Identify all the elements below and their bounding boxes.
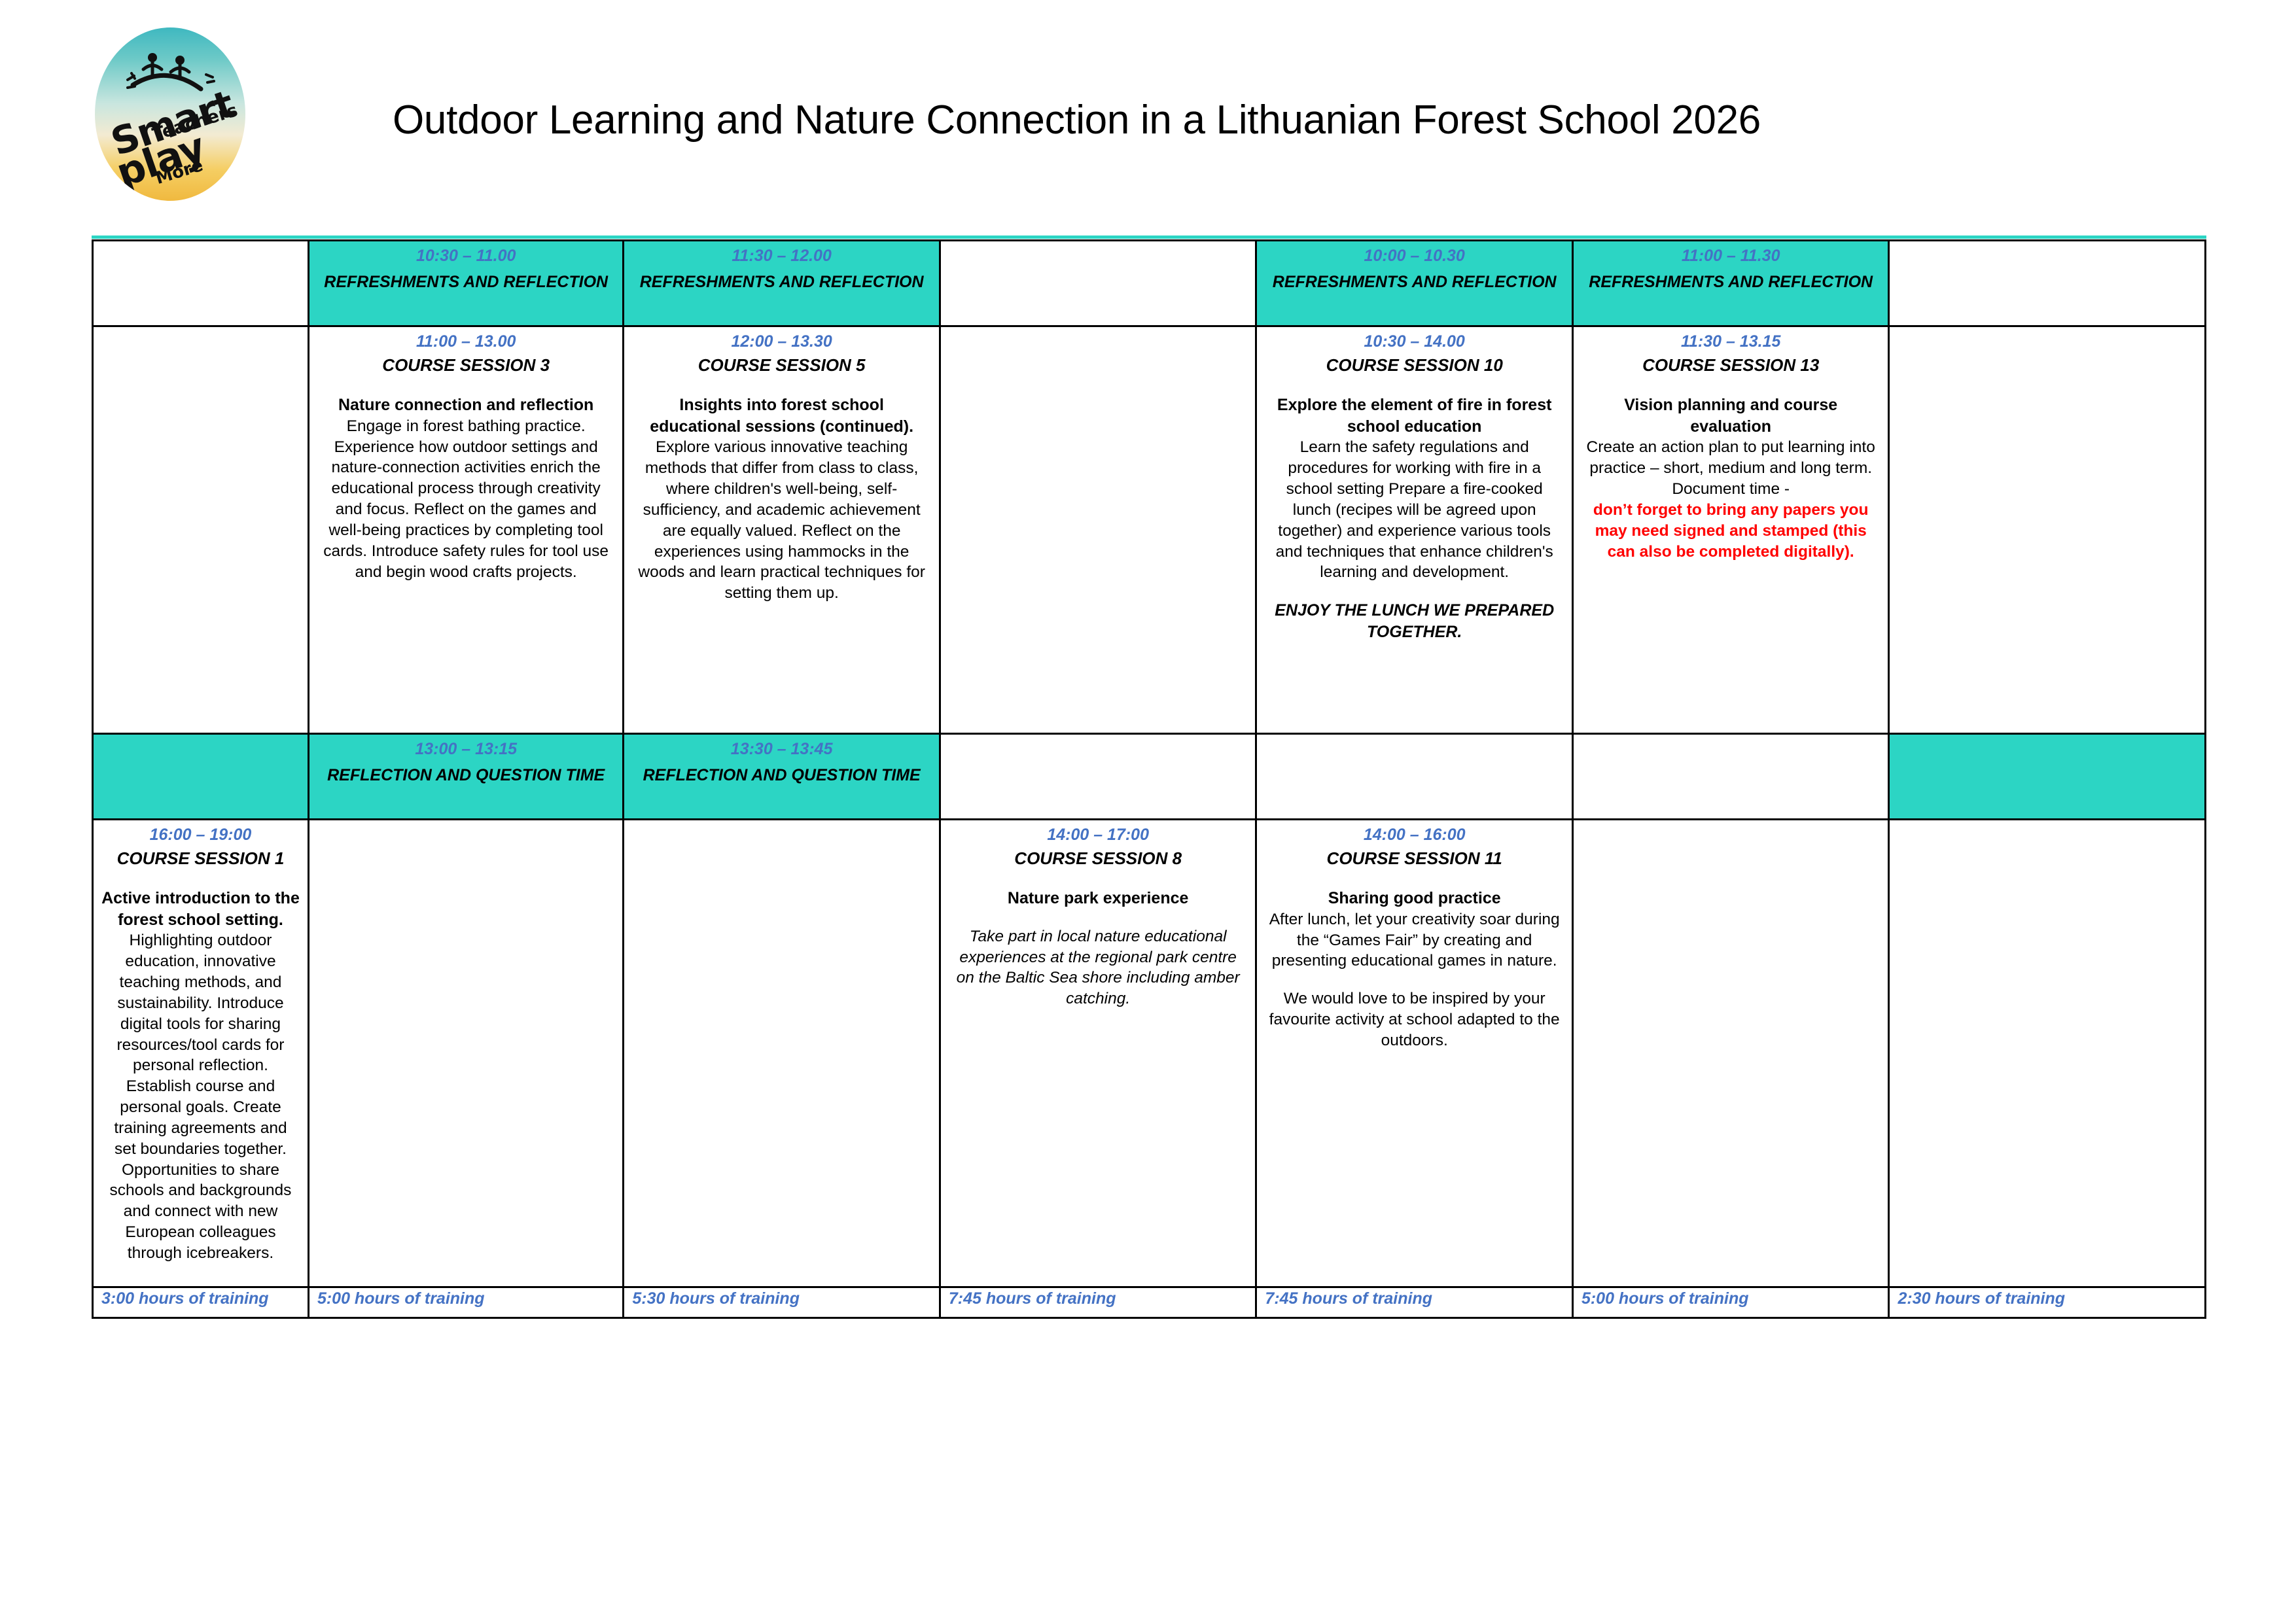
session-title: Active introduction to the forest school… [101,888,300,930]
cell-hours-day2: 5:00 hours of training [308,1287,623,1318]
cell-break-day4 [940,241,1256,326]
cell-reflection-day4 [940,734,1256,820]
cell-reflection-day6 [1572,734,1889,820]
hours-label: 3:00 hours of training [94,1288,308,1310]
break-label: REFRESHMENTS AND REFLECTION [1581,269,1881,295]
reflection-label: REFLECTION AND QUESTION TIME [317,762,614,788]
session-label: COURSE SESSION 1 [101,848,300,870]
session-title: Vision planning and course evaluation [1581,394,1881,437]
break-time: 11:00 – 11.30 [1581,245,1881,267]
session-body: Learn the safety regulations and procedu… [1265,437,1564,583]
session-time: 10:30 – 14.00 [1265,331,1564,353]
session-label: COURSE SESSION 5 [632,355,931,377]
cell-hours-day1: 3:00 hours of training [93,1287,309,1318]
cell-session-3: 11:00 – 13.00 COURSE SESSION 3 Nature co… [308,326,623,734]
cell-session-day1 [93,326,309,734]
smart-teachers-play-more-logo: Smart Teachers play More [95,27,245,201]
session-body: Explore various innovative teaching meth… [632,437,931,604]
cell-break-day6: 11:00 – 11.30 REFRESHMENTS AND REFLECTIO… [1572,241,1889,326]
hours-label: 7:45 hours of training [941,1288,1256,1310]
reflection-time: 13:30 – 13:45 [632,739,931,760]
session-alert-note: don’t forget to bring any papers you may… [1581,500,1881,563]
cell-session-day4 [940,326,1256,734]
session-title: Insights into forest school educational … [632,394,931,437]
cell-break-day7 [1889,241,2206,326]
break-label: REFRESHMENTS AND REFLECTION [632,269,931,295]
cell-session-11: 14:00 – 16:00 COURSE SESSION 11 Sharing … [1256,820,1573,1287]
session-body: After lunch, let your creativity soar du… [1265,909,1564,972]
session-title: Nature park experience [949,888,1248,909]
cell-reflection-day7 [1889,734,2206,820]
cell-break-day1 [93,241,309,326]
cell-afternoon-day7 [1889,820,2206,1287]
session-title: Explore the element of fire in forest sc… [1265,394,1564,437]
table-row-afternoon-sessions: 16:00 – 19:00 COURSE SESSION 1 Active in… [93,820,2206,1287]
session-label: COURSE SESSION 8 [949,848,1248,870]
table-row-refreshments: 10:30 – 11.00 REFRESHMENTS AND REFLECTIO… [93,241,2206,326]
page-title: Outdoor Learning and Nature Connection i… [393,97,1963,143]
break-label: REFRESHMENTS AND REFLECTION [317,269,614,295]
session-time: 14:00 – 16:00 [1265,824,1564,846]
session-time: 16:00 – 19:00 [101,824,300,846]
cell-break-day3: 11:30 – 12.00 REFRESHMENTS AND REFLECTIO… [624,241,940,326]
cell-afternoon-day3 [624,820,940,1287]
session-label: COURSE SESSION 10 [1265,355,1564,377]
session-time: 14:00 – 17:00 [949,824,1248,846]
hours-label: 5:00 hours of training [309,1288,622,1310]
cell-hours-day3: 5:30 hours of training [624,1287,940,1318]
table-top-accent-bar [92,236,2206,239]
session-title: Sharing good practice [1265,888,1564,909]
session-label: COURSE SESSION 11 [1265,848,1564,870]
session-label: COURSE SESSION 3 [317,355,614,377]
break-time: 11:30 – 12.00 [632,245,931,267]
table-row-reflection: 13:00 – 13:15 REFLECTION AND QUESTION TI… [93,734,2206,820]
break-time: 10:00 – 10.30 [1265,245,1564,267]
cell-session-13: 11:30 – 13.15 COURSE SESSION 13 Vision p… [1572,326,1889,734]
session-time: 12:00 – 13.30 [632,331,931,353]
session-time: 11:30 – 13.15 [1581,331,1881,353]
break-label: REFRESHMENTS AND REFLECTION [1265,269,1564,295]
hours-label: 5:30 hours of training [624,1288,939,1310]
cell-session-day7 [1889,326,2206,734]
cell-afternoon-day2 [308,820,623,1287]
break-time: 10:30 – 11.00 [317,245,614,267]
cell-break-day2: 10:30 – 11.00 REFRESHMENTS AND REFLECTIO… [308,241,623,326]
reflection-label: REFLECTION AND QUESTION TIME [632,762,931,788]
session-body: Create an action plan to put learning in… [1581,437,1881,500]
session-body-secondary: We would love to be inspired by your fav… [1265,988,1564,1051]
cell-session-10: 10:30 – 14.00 COURSE SESSION 10 Explore … [1256,326,1573,734]
cell-hours-day6: 5:00 hours of training [1572,1287,1889,1318]
session-body: Highlighting outdoor education, innovati… [101,930,300,1264]
session-time: 11:00 – 13.00 [317,331,614,353]
session-body: Engage in forest bathing practice. Exper… [317,416,614,583]
session-emphasis: ENJOY THE LUNCH WE PREPARED TOGETHER. [1265,600,1564,642]
page-header: Smart Teachers play More Outdoor Learnin… [0,0,2296,222]
hours-label: 7:45 hours of training [1257,1288,1572,1310]
cell-reflection-day2: 13:00 – 13:15 REFLECTION AND QUESTION TI… [308,734,623,820]
table-row-morning-sessions: 11:00 – 13.00 COURSE SESSION 3 Nature co… [93,326,2206,734]
schedule-table-container: 10:30 – 11.00 REFRESHMENTS AND REFLECTIO… [92,239,2206,1319]
hours-label: 2:30 hours of training [1890,1288,2204,1310]
session-label: COURSE SESSION 13 [1581,355,1881,377]
cell-hours-day4: 7:45 hours of training [940,1287,1256,1318]
reflection-time: 13:00 – 13:15 [317,739,614,760]
cell-break-day5: 10:00 – 10.30 REFRESHMENTS AND REFLECTIO… [1256,241,1573,326]
cell-session-1: 16:00 – 19:00 COURSE SESSION 1 Active in… [93,820,309,1287]
schedule-table: 10:30 – 11.00 REFRESHMENTS AND REFLECTIO… [92,239,2206,1319]
hours-label: 5:00 hours of training [1574,1288,1888,1310]
cell-reflection-day3: 13:30 – 13:45 REFLECTION AND QUESTION TI… [624,734,940,820]
cell-afternoon-day6 [1572,820,1889,1287]
cell-reflection-day5 [1256,734,1573,820]
cell-hours-day5: 7:45 hours of training [1256,1287,1573,1318]
cell-session-5: 12:00 – 13.30 COURSE SESSION 5 Insights … [624,326,940,734]
cell-hours-day7: 2:30 hours of training [1889,1287,2206,1318]
cell-reflection-day1 [93,734,309,820]
session-body: Take part in local nature educational ex… [949,926,1248,1009]
table-row-hours-of-training: 3:00 hours of training 5:00 hours of tra… [93,1287,2206,1318]
session-title: Nature connection and reflection [317,394,614,416]
cell-session-8: 14:00 – 17:00 COURSE SESSION 8 Nature pa… [940,820,1256,1287]
